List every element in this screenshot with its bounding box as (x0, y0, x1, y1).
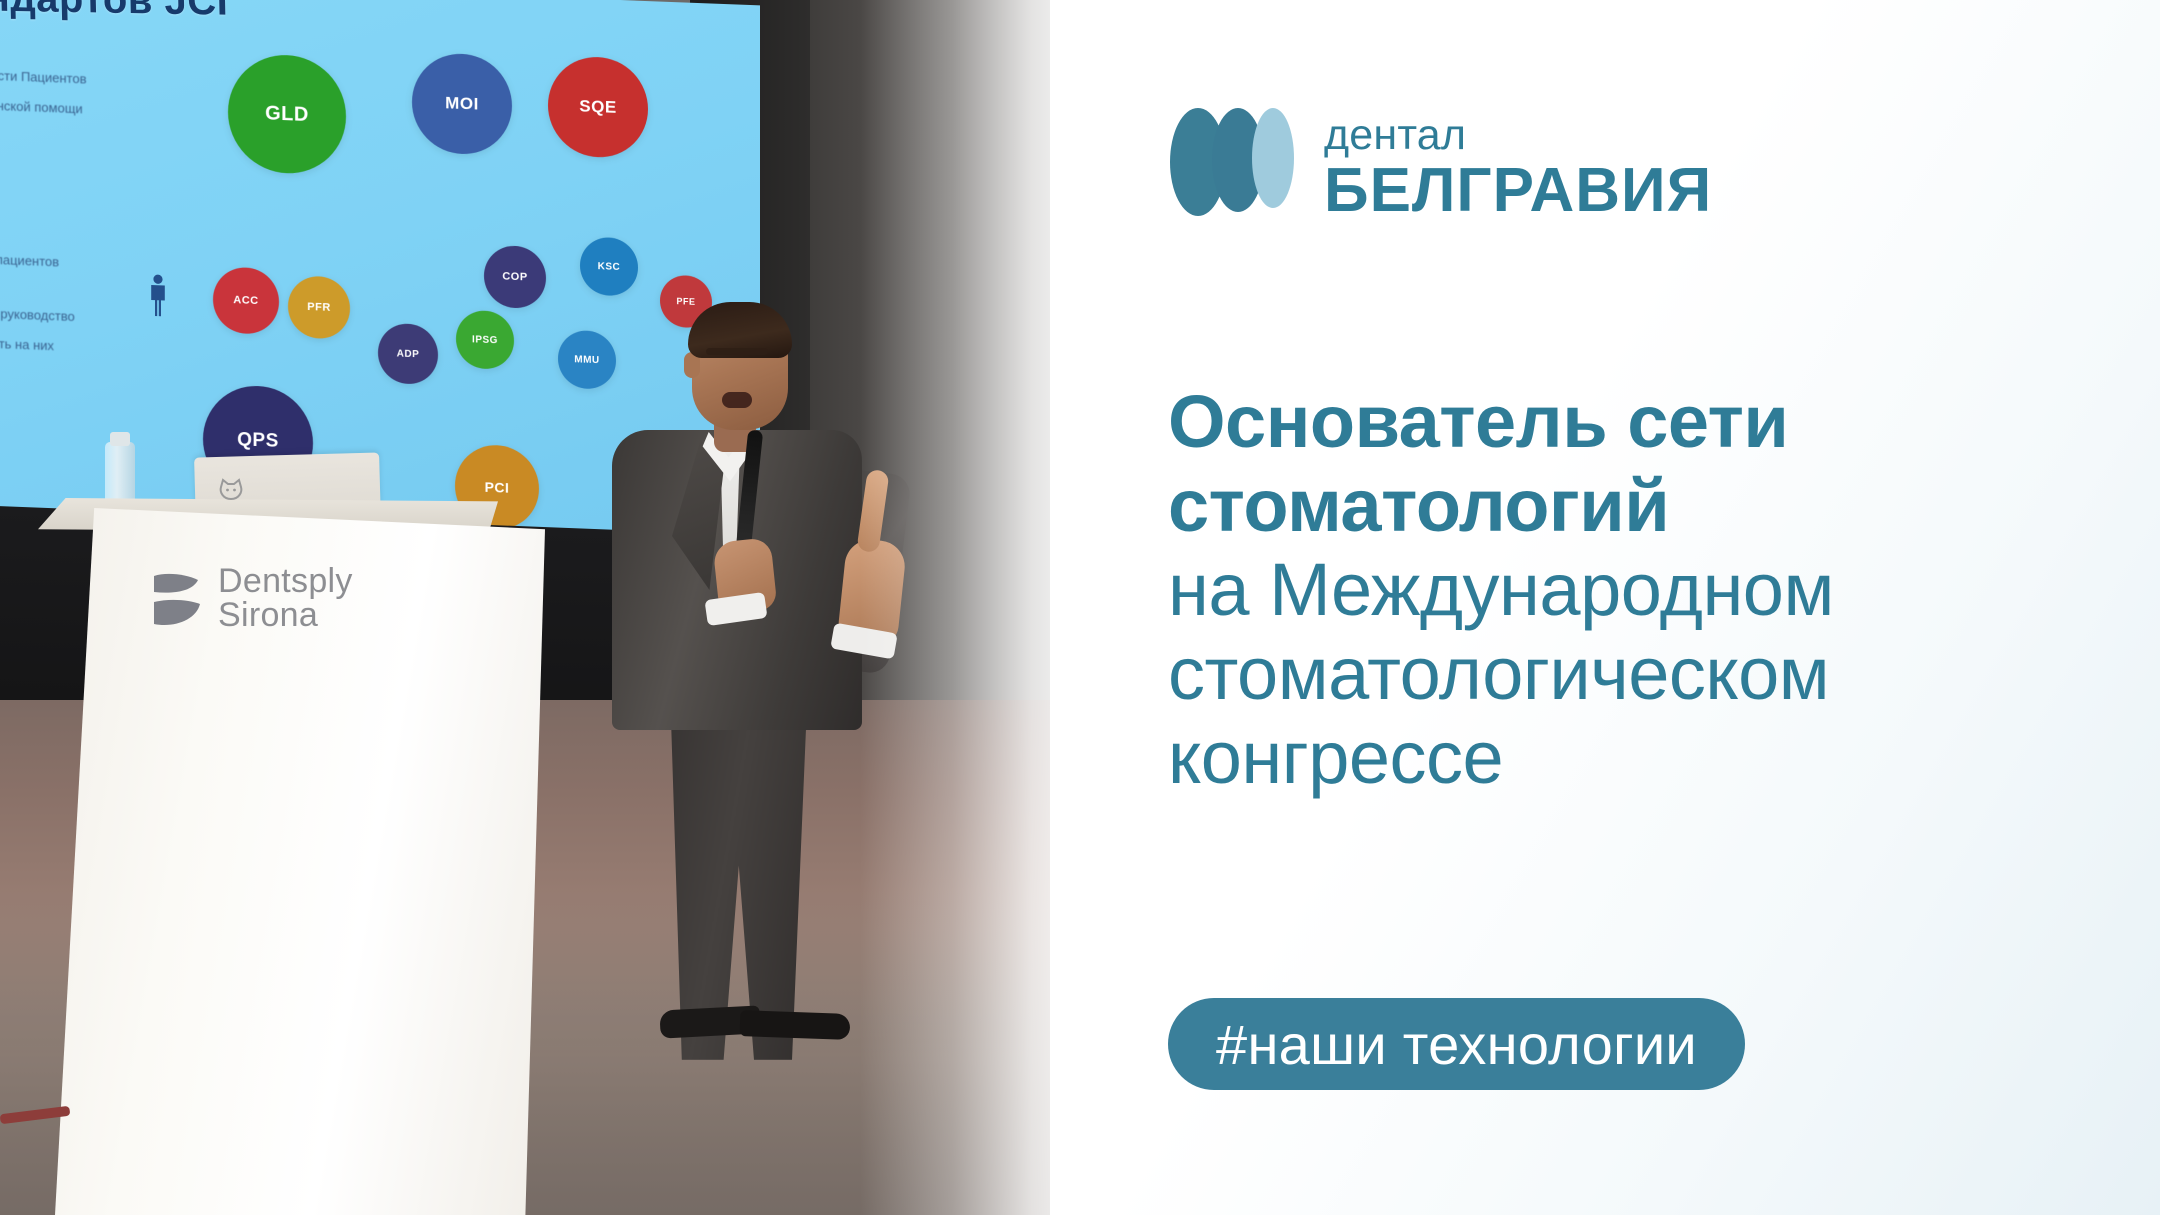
logo-word-belgravia: БЕЛГРАВИЯ (1324, 158, 1712, 224)
headline-block: Основатель сети стоматологий на Междунар… (1168, 380, 2048, 800)
person-pictogram (148, 274, 168, 317)
water-bottle-cap (110, 432, 130, 446)
slide-bubble: MOI (412, 52, 512, 156)
cat-sticker-icon (218, 478, 244, 502)
slide-bubble: IPSG (456, 310, 514, 370)
dentsply-wordmark-line2: Sirona (218, 598, 353, 632)
headline-line-2: стоматологий (1168, 464, 2048, 548)
slide-bubble: MMU (558, 330, 616, 390)
slide-bubble: GLD (228, 53, 346, 176)
slide-note: менеджмент и руководство (0, 303, 75, 324)
slide-bubble: ADP (378, 323, 438, 385)
slide-note: ность медицинской помощи (0, 95, 83, 116)
dentsply-s-mark-icon (152, 570, 204, 632)
slide-note: безопасности пациентов (0, 249, 59, 270)
slide-bubble: PFR (288, 275, 350, 339)
stage-photo: стандартов JCI по Безопасности Пациентов… (0, 0, 1120, 1215)
brand-logo[interactable]: дентал БЕЛГРАВИЯ (1170, 108, 1712, 224)
headline-line-4: стоматологическом (1168, 632, 2048, 716)
headline-line-3: на Международном (1168, 548, 2048, 632)
logo-mark-icon (1170, 108, 1300, 216)
slide-bubble: ACC (213, 266, 279, 335)
slide-note: а и безопасность на них (0, 333, 54, 354)
speaker-mouth (722, 392, 752, 408)
speaker-shoe-right (740, 1010, 851, 1040)
logo-wordmark: дентал БЕЛГРАВИЯ (1324, 108, 1712, 224)
slide-bubble: COP (484, 245, 546, 309)
hashtag-button[interactable]: #наши технологии (1168, 998, 1745, 1090)
social-card: стандартов JCI по Безопасности Пациентов… (0, 0, 2160, 1215)
dentsply-sirona-logo: Dentsply Sirona (152, 560, 382, 646)
content-panel: дентал БЕЛГРАВИЯ Основатель сети стомато… (1050, 0, 2160, 1215)
logo-word-dental: дентал (1324, 112, 1712, 158)
dentsply-wordmark-line1: Dentsply (218, 564, 353, 598)
slide-title: стандартов JCI (0, 0, 229, 25)
slide-bubble: SQE (548, 55, 648, 159)
speaker-eyebrow (706, 348, 768, 355)
headline-line-1: Основатель сети (1168, 380, 2048, 464)
headline-line-5: конгрессе (1168, 716, 2048, 800)
slide-bubble: KSC (580, 236, 638, 296)
slide-note: по Безопасности Пациентов (0, 65, 87, 87)
